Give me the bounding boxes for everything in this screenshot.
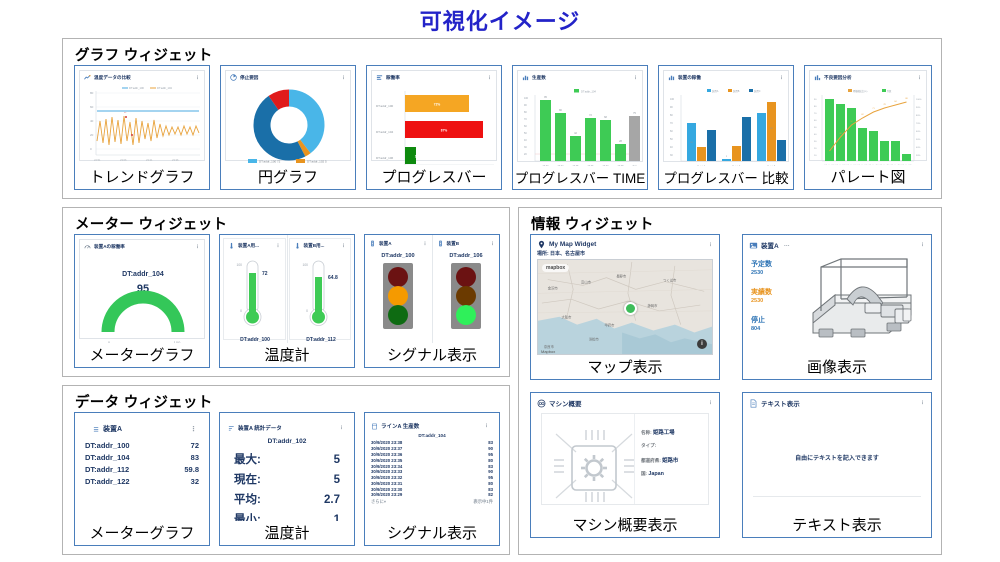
svg-text:50: 50 — [670, 138, 673, 141]
stats-row: 平均: 2.7 — [220, 489, 354, 509]
svg-text:84: 84 — [894, 101, 897, 103]
svg-text:70: 70 — [814, 113, 817, 115]
svg-text:70%: 70% — [916, 123, 920, 125]
list-item: DT:addr_122 32 — [75, 475, 209, 487]
widget-body: 装置の稼働 ⋮ 1009080 706050 4030 — [659, 66, 793, 166]
stats-row: 最小: 1 — [220, 509, 354, 521]
widget-body: 装置A 統計データ ⋮ DT:addr_102 最大: 5 現在: 5 平均: — [220, 413, 354, 521]
svg-text:50: 50 — [814, 127, 817, 129]
svg-text:75: 75 — [633, 112, 636, 115]
thermometer-icon — [228, 242, 235, 249]
widget-body: 装置A ⋮ DT:addr_100 — [365, 235, 499, 343]
widget-machine-summary[interactable]: マシン概要 ⋮ — [530, 392, 720, 538]
svg-text:60: 60 — [90, 105, 94, 109]
map-canvas[interactable]: 富山市 長野市 つくば市 金沢市 大阪市 甲府市 静岡市 浜松市 奈良市 map… — [537, 259, 713, 355]
thermometer-chart: 100 0 72 DT:addr_100 — [224, 249, 286, 343]
mini-panel: 温度データの比較 ⋮ 8060 40200 — [79, 70, 205, 161]
widget-caption: 画像表示 — [743, 355, 931, 379]
widget-body: マシン概要 ⋮ — [531, 393, 719, 513]
svg-text:22:51: 22:51 — [94, 158, 101, 162]
row-key: 平均: — [234, 491, 261, 507]
mapbox-attribution: mapbox — [542, 264, 569, 272]
bar-label-2: 12% — [415, 155, 422, 159]
table-row: 30/9/2020 23:29 82 — [365, 492, 499, 498]
svg-text:30: 30 — [524, 146, 527, 149]
mini-header: 装置A用... ⋮ — [224, 239, 285, 249]
mini-panel: 装置B用... ⋮ 100 0 64.8 D — [289, 238, 352, 340]
widget-caption: 温度計 — [220, 343, 354, 367]
svg-text:10: 10 — [814, 155, 817, 157]
footer-more[interactable]: さらに▾ — [371, 499, 386, 505]
svg-text:90: 90 — [814, 99, 817, 101]
chip-illustration-wrap — [542, 414, 635, 504]
svg-text:2: 2 — [726, 156, 728, 158]
page-title: 可視化イメージ — [0, 4, 1000, 36]
mini-header: 装置A … ⋮ — [743, 235, 931, 250]
overflow-menu-icon[interactable]: ⋮ — [195, 75, 200, 81]
time-table-address: DT:addr_104 — [365, 433, 499, 438]
therm-address: DT:addr_112 — [306, 337, 336, 343]
widget-text-display[interactable]: テキスト表示 ⋮ 自由にテキストを記入できます テキスト表示 — [742, 392, 932, 538]
tick-5: DT:addr_116 — [880, 164, 890, 165]
svg-text:▪ ▪: ▪ ▪ — [124, 111, 127, 114]
mini-title: 不良要因分析 — [824, 75, 852, 81]
mini-header: 温度データの比較 ⋮ — [80, 71, 204, 81]
tick-6: 合計 — [632, 164, 637, 166]
widget-signal-display[interactable]: 装置A ⋮ DT:addr_100 — [364, 234, 500, 368]
gauge-max: 100 — [174, 340, 181, 343]
trend-chart: 8060 40200 22:5123:06 23:2123:36 DT:ad — [80, 81, 206, 165]
row-time: 30/9/2020 23:34 — [371, 464, 402, 469]
widget-body: 装置A ⋮ DT:addr_100 72 DT:addr_104 83 — [75, 413, 209, 521]
mini-header: 装置A ⋮ — [365, 235, 432, 247]
svg-text:62: 62 — [861, 114, 864, 116]
signal-0[interactable]: 装置A ⋮ DT:addr_100 — [365, 235, 432, 343]
widget-caption: パレート図 — [805, 165, 931, 189]
widget-time-table[interactable]: ラインA 生産数 ⋮ DT:addr_104 30/9/2020 23:38 8… — [364, 412, 500, 546]
cat-2: DT:addr_106 — [376, 156, 394, 160]
map-credit: Mapbox — [541, 349, 555, 354]
svg-text:80: 80 — [814, 106, 817, 108]
svg-text:大阪市: 大阪市 — [561, 315, 572, 320]
cat-0: DT:addr_100 — [376, 104, 394, 108]
summary-row: 名称: 姫路工場 — [641, 428, 704, 436]
traffic-light-icon — [437, 240, 444, 247]
widget-caption: シグナル表示 — [365, 521, 499, 545]
mini-header: 装置Aの稼働率 ⋮ — [80, 240, 204, 250]
svg-text:30: 30 — [670, 154, 673, 157]
row-time: 30/9/2020 23:33 — [371, 469, 402, 474]
list-item: DT:addr_112 59.8 — [75, 463, 209, 475]
svg-text:40%: 40% — [916, 147, 920, 149]
slide-canvas: 可視化イメージ グラフ ウィジェット 温度データの比較 ⋮ — [0, 0, 1000, 562]
widget-body: テキスト表示 ⋮ 自由にテキストを記入できます — [743, 393, 931, 513]
section-title-info: 情報 ウィジェット — [531, 213, 654, 234]
mini-title: 停止要因 — [240, 75, 258, 81]
row-label: タイプ: — [641, 443, 656, 448]
row-value: 80 — [488, 481, 493, 486]
donut-chart: DT:addr_100 72 DT:addr_102 5 DT:addr_104… — [226, 81, 352, 165]
svg-text:DT:addr_100: DT:addr_100 — [129, 86, 144, 90]
widget-progress-bar[interactable]: 稼働率 ⋮ DT:addr_100 DT:addr_104 DT:addr_10… — [366, 65, 502, 190]
row-label: 名称: — [641, 430, 652, 435]
svg-text:甲府市: 甲府市 — [604, 323, 615, 328]
svg-text:浜松市: 浜松市 — [589, 336, 600, 341]
signal-address: DT:addr_106 — [449, 253, 482, 259]
svg-text:富山市: 富山市 — [581, 279, 592, 284]
mini-header: 装置A 統計データ ⋮ — [220, 421, 354, 432]
row-value: 2.7 — [324, 494, 340, 506]
stat-label: 停止 — [751, 315, 772, 325]
stats-panel: 装置A 統計データ ⋮ DT:addr_102 最大: 5 現在: 5 平均: — [220, 413, 354, 521]
overflow-menu-icon[interactable]: ⋮ — [487, 75, 492, 81]
trend-icon — [84, 74, 91, 81]
row-time: 30/9/2020 23:38 — [371, 440, 402, 445]
mini-title: テキスト表示 — [761, 398, 800, 408]
overflow-menu-icon[interactable]: ⋮ — [708, 242, 713, 248]
map-pin-icon — [537, 240, 546, 249]
therm-bottom-tick: 0 — [240, 309, 242, 313]
section-graph-widget: グラフ ウィジェット 温度データの比較 ⋮ — [62, 38, 942, 199]
mini-title: 装置A — [761, 240, 779, 250]
mini-panel: 不良要因分析 ⋮ 908070 605040 302010 100%90%80%… — [809, 70, 927, 161]
svg-text:40: 40 — [670, 146, 673, 149]
overflow-menu-icon[interactable]: ⋮ — [633, 75, 638, 81]
svg-text:90: 90 — [670, 106, 673, 109]
widget-caption: メーターグラフ — [75, 343, 209, 367]
ellipsis-icon: … — [784, 242, 790, 248]
tick-1: ライン2 — [732, 164, 741, 166]
widget-caption: 円グラフ — [221, 165, 355, 189]
widget-body: ラインA 生産数 ⋮ DT:addr_104 30/9/2020 23:38 8… — [365, 413, 499, 521]
mini-panel: 停止要因 ⋮ DT:addr_100 72 — [225, 70, 351, 161]
stat-label: 実績数 — [751, 287, 772, 297]
stat-label: 予定数 — [751, 259, 772, 269]
svg-text:23:21: 23:21 — [146, 158, 153, 162]
row-time: 30/9/2020 23:31 — [371, 481, 402, 486]
mini-header: テキスト表示 ⋮ — [743, 393, 931, 408]
summary-row: タイプ: — [641, 443, 704, 449]
mini-title: My Map Widget — [549, 241, 596, 248]
svg-text:78: 78 — [883, 104, 886, 106]
widget-caption: マシン概要表示 — [531, 513, 719, 537]
widget-pie-chart[interactable]: 停止要因 ⋮ DT:addr_100 72 — [220, 65, 356, 190]
bar-label-0: 72% — [434, 103, 441, 107]
widget-body: 停止要因 ⋮ DT:addr_100 72 — [221, 66, 355, 165]
row-time: 30/9/2020 23:32 — [371, 475, 402, 480]
section-title-data: データ ウィジェット — [75, 391, 213, 412]
traffic-light-icon — [369, 240, 376, 247]
overflow-menu-icon[interactable]: ⋮ — [490, 241, 495, 247]
mini-title: マシン概要 — [549, 398, 582, 408]
row-value: 32 — [191, 477, 199, 486]
row-time: 30/9/2020 23:37 — [371, 446, 402, 451]
tick-4: 23:37 — [603, 165, 610, 166]
legend-1: 装置B — [733, 89, 740, 93]
image-stat: 実績数 2530 — [751, 287, 772, 304]
chart-icon — [814, 74, 821, 81]
legend-0: 装置A — [712, 89, 719, 93]
row-key: 現在: — [234, 471, 261, 487]
gauge-icon — [84, 243, 91, 250]
time-table-rows: 30/9/2020 23:38 83 30/9/2020 23:37 90 30… — [365, 440, 499, 498]
widget-body: 装置A … ⋮ 予定数 2530 実績数 2530 停止 804 — [743, 235, 931, 355]
widget-meter-gauge[interactable]: 装置Aの稼働率 ⋮ DT:addr_104 95 0 100 メーターグラフ — [74, 234, 210, 368]
svg-text:23:06: 23:06 — [120, 158, 127, 162]
widget-body: 装置A用... ⋮ 100 0 72 DT: — [220, 235, 354, 343]
overflow-menu-icon[interactable]: ⋮ — [779, 75, 784, 81]
section-info-widget: 情報 ウィジェット My Map Widget ⋮ 場所: 日本、名古屋市 — [518, 207, 942, 555]
row-key: 最大: — [234, 451, 261, 467]
signal-1[interactable]: 装置B ⋮ DT:addr_106 — [432, 235, 500, 343]
footer-count: 表示中1件 — [473, 499, 493, 505]
row-time: 30/9/2020 23:36 — [371, 452, 402, 457]
mini-title: 装置の稼働 — [678, 75, 701, 81]
section-title-meter: メーター ウィジェット — [75, 213, 227, 234]
widget-caption: プログレスバー TIME — [513, 166, 647, 189]
list-item: DT:addr_100 72 — [75, 439, 209, 451]
row-value: Japan — [648, 471, 664, 477]
svg-text:68: 68 — [604, 116, 607, 119]
signal-pair: 装置A ⋮ DT:addr_100 — [365, 235, 499, 343]
mini-panel: 装置の稼働 ⋮ 1009080 706050 4030 — [663, 70, 789, 162]
tick-6: DT:addr_118 — [891, 164, 901, 165]
tick-2: 23:35 — [573, 165, 580, 166]
svg-text:50%: 50% — [916, 139, 920, 141]
therm-top-tick: 100 — [302, 263, 308, 267]
row-value: 80 — [488, 458, 493, 463]
overflow-menu-icon[interactable]: ⋮ — [423, 241, 428, 247]
overflow-menu-icon[interactable]: ⋮ — [484, 423, 495, 429]
svg-text:20: 20 — [90, 133, 94, 137]
mini-title: 装置A 統計データ — [238, 424, 282, 432]
widget-caption: プログレスバー — [367, 165, 501, 189]
overview-icon — [537, 399, 546, 408]
row-value: 83 — [488, 464, 493, 469]
svg-text:70: 70 — [670, 122, 673, 125]
svg-text:23:36: 23:36 — [172, 158, 179, 162]
image-stats: 予定数 2530 実績数 2530 停止 804 — [751, 259, 772, 332]
svg-text:50: 50 — [524, 132, 527, 135]
overflow-menu-icon[interactable]: ⋮ — [190, 425, 205, 433]
svg-text:70: 70 — [524, 118, 527, 121]
tick-4: DT:addr_112 — [869, 164, 879, 165]
image-icon — [749, 241, 758, 250]
row-value: 姫路工場 — [653, 430, 675, 436]
widget-thermometer[interactable]: 装置A用... ⋮ 100 0 72 DT: — [219, 234, 355, 368]
overflow-menu-icon[interactable]: ⋮ — [920, 242, 925, 248]
row-time: 30/9/2020 23:29 — [371, 492, 402, 497]
mini-panel: 稼働率 ⋮ DT:addr_100 DT:addr_104 DT:addr_10… — [371, 70, 497, 161]
mini-header: 装置B用... ⋮ — [290, 239, 351, 249]
svg-text:100: 100 — [670, 98, 675, 101]
overflow-menu-icon[interactable]: ⋮ — [276, 243, 281, 249]
mini-title: ラインA 生産数 — [381, 422, 419, 430]
row-time: 30/9/2020 23:30 — [371, 487, 402, 492]
image-stat: 予定数 2530 — [751, 259, 772, 276]
svg-text:71: 71 — [872, 108, 875, 110]
chart-icon — [668, 74, 675, 81]
svg-text:20: 20 — [524, 153, 527, 156]
section-title-graph: グラフ ウィジェット — [75, 44, 213, 65]
section-meter-widget: メーター ウィジェット 装置Aの稼働率 ⋮ DT:addr_104 95 0 1… — [62, 207, 510, 377]
row-value: 83 — [191, 453, 199, 462]
row-value: 59.8 — [184, 465, 199, 474]
svg-text:30: 30 — [814, 141, 817, 143]
thermometer-chart: 100 0 64.8 DT:addr_112 — [290, 249, 352, 343]
widget-data-list[interactable]: 装置A ⋮ DT:addr_100 72 DT:addr_104 83 — [74, 412, 210, 546]
mini-title: 稼働率 — [386, 75, 400, 81]
map-marker[interactable] — [624, 302, 637, 315]
row-key: DT:addr_104 — [85, 453, 130, 462]
svg-text:0: 0 — [90, 147, 92, 151]
list-icon — [93, 426, 100, 433]
document-icon — [749, 399, 758, 408]
table-icon — [371, 423, 378, 430]
svg-text:80: 80 — [524, 111, 527, 114]
stat-value: 2530 — [751, 270, 772, 276]
legend-label-0: DT:addr_100 72 — [259, 160, 281, 164]
data-list-panel: 装置A ⋮ DT:addr_100 72 DT:addr_104 83 — [75, 413, 209, 487]
svg-text:60: 60 — [670, 130, 673, 133]
svg-text:つくば市: つくば市 — [663, 278, 677, 283]
gauge-min: 0 — [108, 340, 111, 343]
chip-icon — [546, 420, 642, 512]
legend-1: 件数 — [887, 89, 892, 93]
overflow-menu-icon[interactable]: ⋮ — [341, 243, 346, 249]
table-footer[interactable]: さらに▾ 表示中1件 — [365, 499, 499, 506]
overflow-menu-icon[interactable]: ⋮ — [339, 425, 350, 431]
overflow-menu-icon[interactable]: ⋮ — [917, 75, 922, 81]
overflow-menu-icon[interactable]: ⋮ — [341, 75, 346, 81]
row-value: 5 — [334, 454, 340, 466]
widget-caption: プログレスバー 比較 — [659, 166, 793, 189]
stats-icon — [228, 425, 235, 432]
svg-text:100: 100 — [524, 97, 529, 100]
widget-trend-graph[interactable]: 温度データの比較 ⋮ 8060 40200 — [74, 65, 210, 190]
row-key: DT:addr_112 — [85, 465, 129, 474]
mini-header: 装置の稼働 ⋮ — [664, 71, 788, 81]
stat-value: 804 — [751, 326, 772, 332]
text-content-area[interactable]: 自由にテキストを記入できます — [753, 419, 921, 497]
tick-3: 23:36 — [588, 165, 595, 166]
machine-illustration — [799, 253, 927, 345]
therm-top-tick: 100 — [236, 263, 242, 267]
thermometer-0[interactable]: 装置A用... ⋮ 100 0 72 DT: — [220, 235, 287, 343]
svg-text:長野市: 長野市 — [616, 274, 627, 279]
widget-progress-bar-time[interactable]: 生産数 ⋮ 1009080 706050 403020 — [512, 65, 648, 190]
tick-1: 23:34 — [558, 165, 565, 166]
tick-2: ライン3 — [767, 164, 776, 166]
row-value: 5 — [334, 474, 340, 486]
overflow-menu-icon[interactable]: ⋮ — [708, 400, 713, 406]
widget-pareto-chart[interactable]: 不良要因分析 ⋮ 908070 605040 302010 100%90%80%… — [804, 65, 932, 190]
svg-text:60: 60 — [814, 120, 817, 122]
signal-address: DT:addr_100 — [381, 253, 414, 259]
row-label: 都道府県: — [641, 458, 661, 463]
svg-text:95: 95 — [544, 96, 547, 99]
row-key: DT:addr_100 — [85, 441, 130, 450]
tick-0: DT:addr_100 — [825, 164, 835, 165]
widget-body: 稼働率 ⋮ DT:addr_100 DT:addr_104 DT:addr_10… — [367, 66, 501, 165]
data-list-rows: DT:addr_100 72 DT:addr_104 83 DT:addr_11… — [75, 439, 209, 487]
mini-header: 停止要因 ⋮ — [226, 71, 350, 81]
machine-summary-box: 名称: 姫路工場 タイプ: 都道府県: 姫路市 国: — [541, 413, 709, 505]
mini-title: 装置B — [447, 241, 460, 247]
svg-text:DT:addr_104: DT:addr_104 — [157, 86, 172, 90]
svg-text:金沢市: 金沢市 — [548, 285, 559, 290]
svg-text:90: 90 — [524, 104, 527, 107]
map-info-icon[interactable]: i — [697, 339, 707, 349]
hbar-chart: DT:addr_100 DT:addr_104 DT:addr_106 72% … — [372, 81, 498, 165]
mini-header: 装置B ⋮ — [433, 235, 500, 247]
svg-text:100%: 100% — [916, 99, 922, 101]
row-value: 姫路市 — [662, 458, 678, 464]
widget-caption: テキスト表示 — [743, 513, 931, 537]
thermometer-icon — [294, 242, 301, 249]
therm-address: DT:addr_100 — [240, 337, 270, 343]
legend-2: 装置C — [754, 89, 761, 93]
widget-image-display[interactable]: 装置A … ⋮ 予定数 2530 実績数 2530 停止 804 — [742, 234, 932, 380]
row-value: 95 — [488, 475, 493, 480]
bar-icon — [376, 74, 383, 81]
widget-progress-bar-compare[interactable]: 装置の稼働 ⋮ 1009080 706050 4030 — [658, 65, 794, 190]
mini-title: 装置Aの稼働率 — [94, 244, 125, 250]
mini-header: My Map Widget ⋮ — [531, 235, 719, 249]
stats-address: DT:addr_102 — [220, 438, 354, 445]
mini-title: 生産数 — [532, 75, 546, 81]
widget-body: 装置Aの稼働率 ⋮ DT:addr_104 95 0 100 — [75, 235, 209, 343]
mini-header: 装置A ⋮ — [75, 421, 209, 434]
widget-statistics[interactable]: 装置A 統計データ ⋮ DT:addr_102 最大: 5 現在: 5 平均: — [219, 412, 355, 546]
image-stat: 停止 804 — [751, 315, 772, 332]
gauge-address: DT:addr_104 — [122, 271, 164, 278]
therm-value: 72 — [262, 271, 268, 277]
legend-label-1: DT:addr_102 5 — [307, 160, 327, 164]
cat-1: DT:addr_104 — [376, 130, 394, 134]
grouped-bar-chart: 1009080 706050 4030 — [664, 81, 790, 166]
map-location-label: 場所: 日本、名古屋市 — [531, 249, 719, 259]
mini-title: 装置A — [103, 424, 122, 434]
widget-caption: トレンドグラフ — [75, 165, 209, 189]
thermometer-1[interactable]: 装置B用... ⋮ 100 0 64.8 D — [287, 235, 355, 343]
row-value: 83 — [488, 487, 493, 492]
overflow-menu-icon[interactable]: ⋮ — [195, 244, 200, 250]
overflow-menu-icon[interactable]: ⋮ — [920, 400, 925, 406]
tick-0: ライン1 — [697, 164, 706, 166]
svg-text:72: 72 — [589, 114, 592, 117]
section-data-widget: データ ウィジェット 装置A ⋮ DT:addr_100 72 — [62, 385, 510, 555]
svg-text:30%: 30% — [916, 155, 920, 157]
svg-text:80: 80 — [670, 114, 673, 117]
tick-1: DT:addr_102 — [836, 164, 846, 165]
widget-body: My Map Widget ⋮ 場所: 日本、名古屋市 — [531, 235, 719, 355]
mini-title: 装置B用... — [304, 243, 325, 249]
machine-summary-fields: 名称: 姫路工場 タイプ: 都道府県: 姫路市 国: — [635, 414, 708, 504]
signal-light: DT:addr_100 — [365, 247, 431, 343]
mini-header: 生産数 ⋮ — [518, 71, 642, 81]
widget-body: 温度データの比較 ⋮ 8060 40200 — [75, 66, 209, 165]
widget-body: 不良要因分析 ⋮ 908070 605040 302010 100%90%80%… — [805, 66, 931, 165]
text-body: 自由にテキストを記入できます — [795, 453, 879, 462]
tick-7: DT:addr_122 — [902, 164, 912, 165]
widget-map-display[interactable]: My Map Widget ⋮ 場所: 日本、名古屋市 — [530, 234, 720, 380]
widget-caption: 温度計 — [220, 521, 354, 545]
therm-value: 64.8 — [328, 275, 338, 281]
mini-header: 不良要因分析 ⋮ — [810, 71, 926, 81]
svg-text:40: 40 — [90, 119, 94, 123]
gauge-chart: DT:addr_104 95 0 100 — [80, 250, 206, 343]
